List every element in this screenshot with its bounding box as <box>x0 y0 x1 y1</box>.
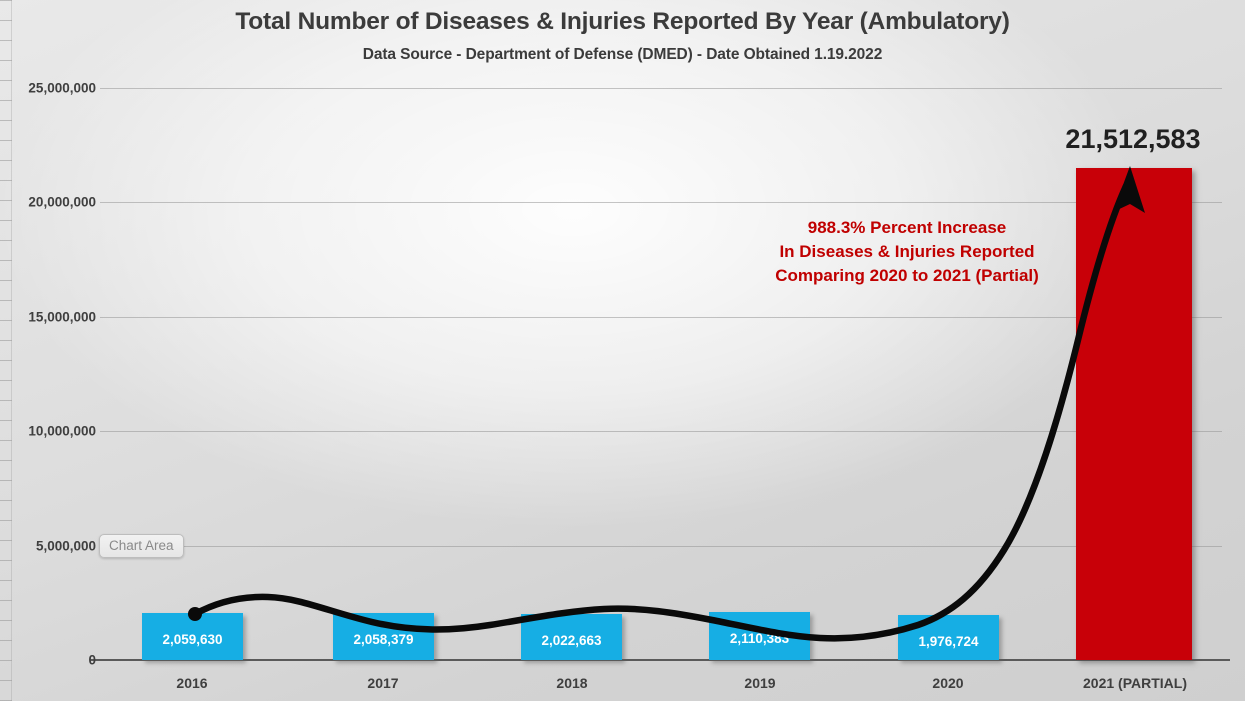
x-tick-label-2019: 2019 <box>744 675 775 691</box>
bar-2019[interactable]: 2,110,383 <box>709 612 810 660</box>
chart-title: Total Number of Diseases & Injuries Repo… <box>0 8 1245 36</box>
x-tick-label-2020: 2020 <box>932 675 963 691</box>
red-bar-value-callout: 21,512,583 <box>1043 124 1223 155</box>
x-tick-label-2021: 2021 (PARTIAL) <box>1083 675 1187 691</box>
bar-2018[interactable]: 2,022,663 <box>521 614 622 660</box>
annotation-line-1: 988.3% Percent Increase <box>738 216 1076 240</box>
bar-series: 2,059,630 2,058,379 2,022,663 2,110,383 … <box>0 88 1245 660</box>
bar-value-label: 2,058,379 <box>333 632 434 647</box>
bar-value-label: 2,059,630 <box>142 632 243 647</box>
bar-2021-partial[interactable] <box>1076 168 1192 660</box>
bar-2020[interactable]: 1,976,724 <box>898 615 999 660</box>
bar-value-label: 2,110,383 <box>709 631 810 646</box>
x-tick-label-2017: 2017 <box>367 675 398 691</box>
chart-subtitle: Data Source - Department of Defense (DME… <box>0 46 1245 64</box>
bar-value-label: 2,022,663 <box>521 633 622 648</box>
annotation-line-2: In Diseases & Injuries Reported <box>738 240 1076 264</box>
x-tick-label-2018: 2018 <box>556 675 587 691</box>
annotation-line-3: Comparing 2020 to 2021 (Partial) <box>738 264 1076 288</box>
bar-2017[interactable]: 2,058,379 <box>333 613 434 660</box>
x-tick-label-2016: 2016 <box>176 675 207 691</box>
bar-value-label: 1,976,724 <box>898 634 999 649</box>
chart-canvas: Total Number of Diseases & Injuries Repo… <box>0 0 1245 701</box>
bar-2016[interactable]: 2,059,630 <box>142 613 243 660</box>
chart-area-tooltip: Chart Area <box>99 534 184 558</box>
percent-increase-annotation: 988.3% Percent Increase In Diseases & In… <box>738 216 1076 288</box>
